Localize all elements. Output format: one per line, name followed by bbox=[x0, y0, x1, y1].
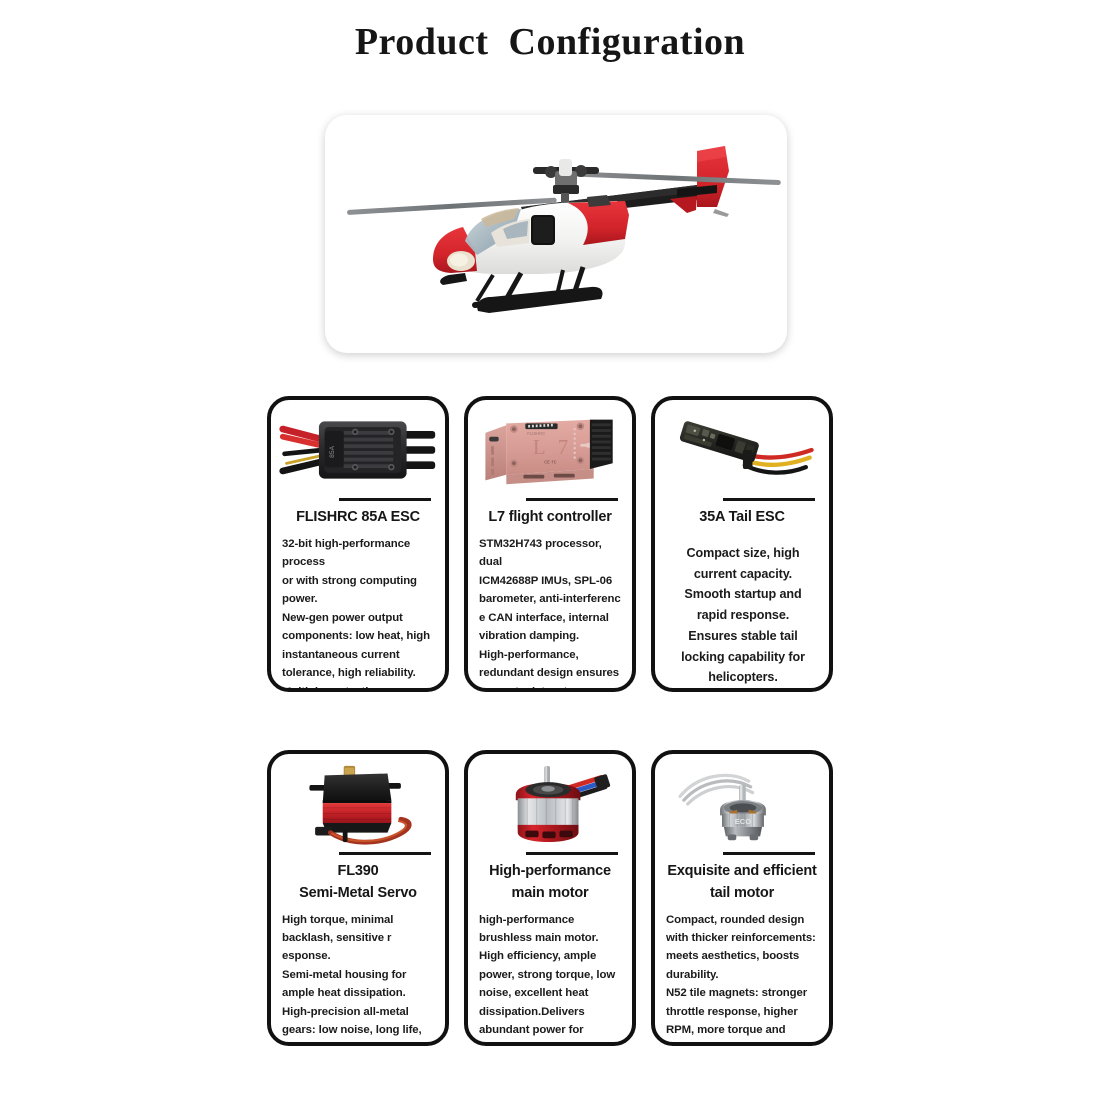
l7-flight-controller-illustration: FLISHRC L 7 ᴄᴇ ғᴄ bbox=[474, 406, 626, 494]
card-title: L7 flight controller bbox=[468, 501, 632, 529]
product-card-l7-flight-controller[interactable]: FLISHRC L 7 ᴄᴇ ғᴄ bbox=[464, 396, 636, 692]
esc-85a-photo: 85A bbox=[277, 406, 439, 494]
product-card-35a-tail-esc[interactable]: 35A Tail ESC Compact size, high current … bbox=[651, 396, 833, 692]
page-title: Product Configuration bbox=[0, 20, 1100, 64]
tail-motor-illustration: ECO bbox=[661, 760, 823, 848]
card-body: high-performance brushless main motor. H… bbox=[468, 905, 632, 1047]
main-motor-photo bbox=[474, 760, 626, 848]
rc-helicopter-photo bbox=[325, 115, 787, 353]
tail-esc-35a-illustration bbox=[661, 406, 823, 494]
product-card-main-motor[interactable]: High-performance main motor high-perform… bbox=[464, 750, 636, 1046]
tail-motor-photo: ECO bbox=[661, 760, 823, 848]
product-card-flishrc-85a-esc[interactable]: 85A FLISHRC 85A ESC 32-bit high-performa… bbox=[267, 396, 449, 692]
product-card-fl390-semi-metal-servo[interactable]: FL390 Semi-Metal Servo High torque, mini… bbox=[267, 750, 449, 1046]
helicopter-illustration bbox=[325, 115, 787, 353]
card-title: FLISHRC 85A ESC bbox=[271, 501, 445, 529]
fl390-servo-photo bbox=[277, 760, 439, 848]
card-body: High torque, minimal backlash, sensitive… bbox=[271, 905, 445, 1047]
fl390-servo-illustration bbox=[277, 760, 439, 848]
hero-product-panel bbox=[325, 115, 787, 353]
fc-model-label: L 7 bbox=[533, 435, 572, 459]
card-title: Exquisite and efficient tail motor bbox=[655, 855, 829, 905]
product-card-tail-motor[interactable]: ECO Exquisite and efficient tail motor C… bbox=[651, 750, 833, 1046]
esc-85a-illustration: 85A bbox=[277, 406, 439, 494]
card-body: Compact, rounded design with thicker rei… bbox=[655, 905, 829, 1047]
fc-certification-marks: ᴄᴇ ғᴄ bbox=[544, 459, 556, 465]
card-body: 32-bit high-performance process or with … bbox=[271, 529, 445, 692]
card-title: High-performance main motor bbox=[468, 855, 632, 905]
card-body: STM32H743 processor, dual ICM42688P IMUs… bbox=[468, 529, 632, 692]
tail-esc-35a-photo bbox=[661, 406, 823, 494]
l7-flight-controller-photo: FLISHRC L 7 ᴄᴇ ғᴄ bbox=[474, 406, 626, 494]
esc-rating-label: 85A bbox=[329, 445, 336, 457]
card-title: 35A Tail ESC bbox=[655, 501, 829, 529]
card-title: FL390 Semi-Metal Servo bbox=[271, 855, 445, 905]
card-body: Compact size, high current capacity. Smo… bbox=[655, 529, 829, 692]
main-motor-illustration bbox=[474, 760, 626, 848]
tail-motor-brand-label: ECO bbox=[735, 817, 752, 826]
